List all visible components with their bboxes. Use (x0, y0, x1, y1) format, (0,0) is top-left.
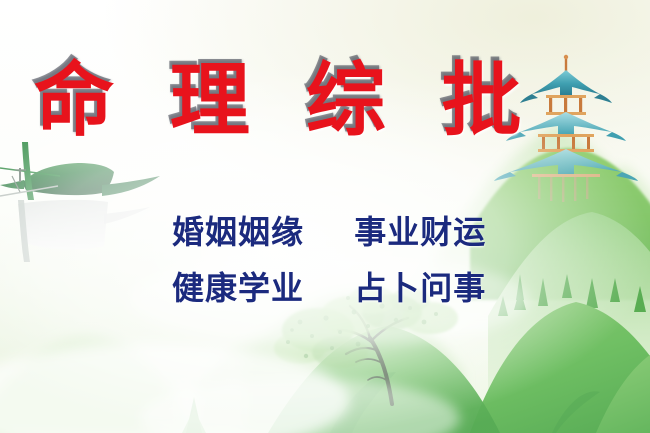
poster-canvas: 命 理 综 批 婚姻姻缘 事业财运 健康学业 占卜问事 (0, 0, 650, 433)
service-health-study: 健康学业 (172, 269, 304, 307)
service-marriage: 婚姻姻缘 (172, 213, 304, 251)
service-line-2: 健康学业 占卜问事 (172, 268, 486, 308)
service-line-1: 婚姻姻缘 事业财运 (172, 212, 486, 252)
service-divination: 占卜问事 (354, 269, 486, 307)
sampan-boat-icon (0, 142, 160, 262)
service-career: 事业财运 (354, 213, 486, 251)
page-title: 命 理 综 批 (34, 55, 536, 147)
